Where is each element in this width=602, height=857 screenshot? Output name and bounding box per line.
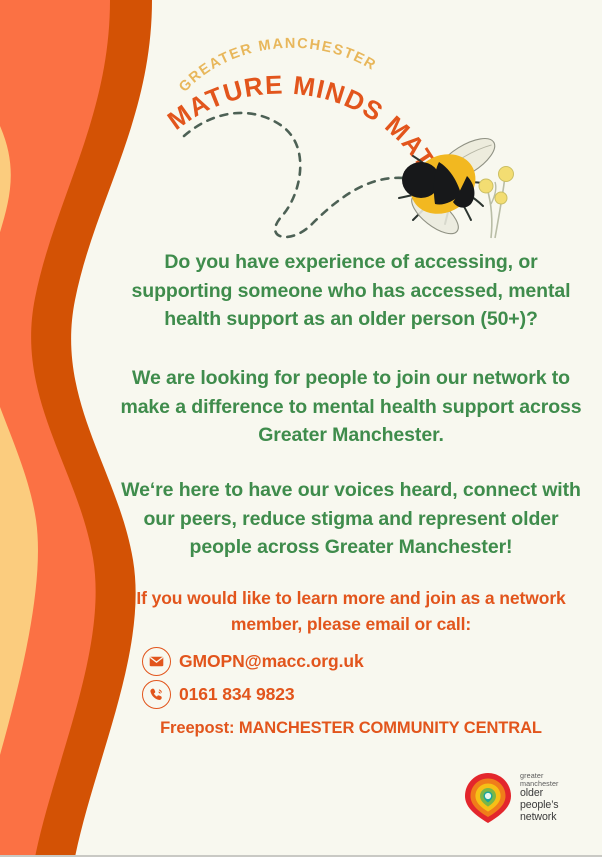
- dashed-flight-path-icon: [184, 113, 404, 237]
- paragraph-mission: We‘re here to have our voices heard, con…: [120, 476, 582, 562]
- email-contact-row[interactable]: GMOPN@macc.org.uk: [142, 647, 582, 676]
- gmopn-logo: greater manchester older people’s networ…: [463, 772, 559, 824]
- freepost-address: Freepost: MANCHESTER COMMUNITY CENTRAL: [120, 717, 582, 739]
- paragraph-question: Do you have experience of accessing, or …: [120, 248, 582, 334]
- gmopn-mark-icon: [463, 772, 513, 824]
- email-address[interactable]: GMOPN@macc.org.uk: [179, 651, 364, 672]
- gmopn-line-network: network: [520, 812, 559, 824]
- poster-header: GREATER MANCHESTER MATURE MINDS MATTER: [0, 0, 602, 260]
- svg-text:MATURE MINDS MATTER: MATURE MINDS MATTER: [0, 0, 441, 174]
- phone-number[interactable]: 0161 834 9823: [179, 684, 294, 705]
- poster-content: Do you have experience of accessing, or …: [120, 248, 582, 740]
- poster-canvas: GREATER MANCHESTER MATURE MINDS MATTER: [0, 0, 602, 857]
- paragraph-looking: We are looking for people to join our ne…: [120, 364, 582, 450]
- envelope-icon: [142, 647, 171, 676]
- gmopn-logo-text: greater manchester older people’s networ…: [520, 772, 559, 824]
- flower-decoration-icon: [479, 167, 514, 239]
- phone-contact-row[interactable]: 0161 834 9823: [142, 680, 582, 709]
- bumblebee-icon: [383, 128, 518, 248]
- phone-icon: [142, 680, 171, 709]
- contact-lead-text: If you would like to learn more and join…: [120, 586, 582, 637]
- arc-main-label: MATURE MINDS MATTER: [0, 0, 441, 174]
